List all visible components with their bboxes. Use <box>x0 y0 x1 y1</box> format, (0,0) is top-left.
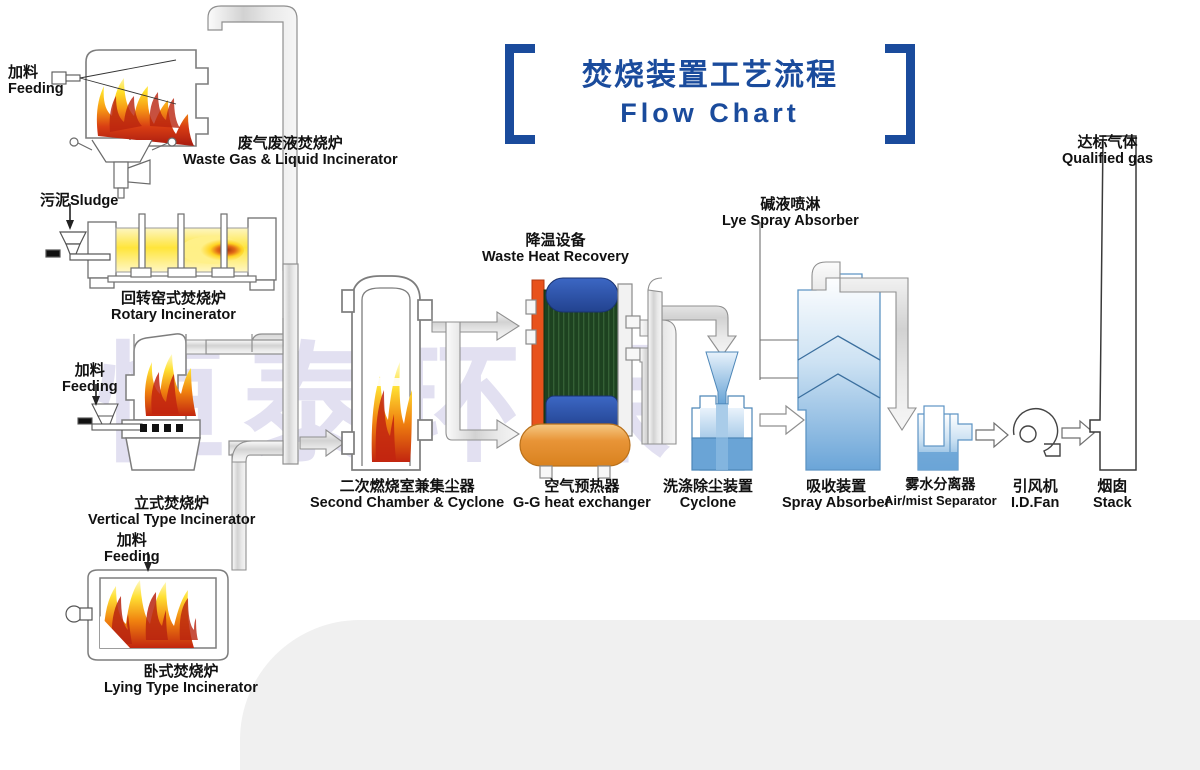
title-cn: 焚烧装置工艺流程 <box>560 50 860 94</box>
feeding-label-3: 加料 Feeding <box>104 532 160 565</box>
waste-gas-liquid-incinerator-label: 废气废液焚烧炉 Waste Gas & Liquid Incinerator <box>183 135 398 168</box>
stack-label: 烟囱 Stack <box>1093 478 1132 511</box>
page-title: 焚烧装置工艺流程 Flow Chart <box>505 40 915 150</box>
qualified-gas-callout: 达标气体 Qualified gas <box>1062 134 1153 167</box>
vertical-type-incinerator-label: 立式焚烧炉 Vertical Type Incinerator <box>88 495 255 528</box>
air-mist-separator-label: 雾水分离器 Air/mist Separator <box>884 478 997 508</box>
cyclone-scrubber-label: 洗涤除尘装置 Cyclone <box>663 478 753 511</box>
lye-spray-absorber-callout: 碱液喷淋 Lye Spray Absorber <box>722 196 859 229</box>
sludge-label: 污泥Sludge <box>40 192 118 210</box>
waste-heat-recovery-label: 降温设备 Waste Heat Recovery <box>482 232 629 265</box>
feeding-label-2: 加料 Feeding <box>62 362 118 395</box>
id-fan-label: 引风机 I.D.Fan <box>1011 478 1059 511</box>
second-chamber-cyclone-label: 二次燃烧室兼集尘器 Second Chamber & Cyclone <box>310 478 504 511</box>
bracket-left-icon <box>505 44 535 144</box>
feeding-label-1: 加料 Feeding <box>8 64 64 97</box>
bracket-right-icon <box>885 44 915 144</box>
flow-diagram-canvas: 恒泰环保 焚烧装置工艺流程 Flow Chart <box>0 0 1200 700</box>
rotary-incinerator-label: 回转窑式焚烧炉 Rotary Incinerator <box>111 290 236 323</box>
title-en: Flow Chart <box>560 98 860 129</box>
gg-heat-exchanger-label: 空气预热器 G-G heat exchanger <box>513 478 651 511</box>
spray-absorber-label: 吸收装置 Spray Absorber <box>782 478 890 511</box>
lying-type-incinerator-label: 卧式焚烧炉 Lying Type Incinerator <box>104 663 258 696</box>
